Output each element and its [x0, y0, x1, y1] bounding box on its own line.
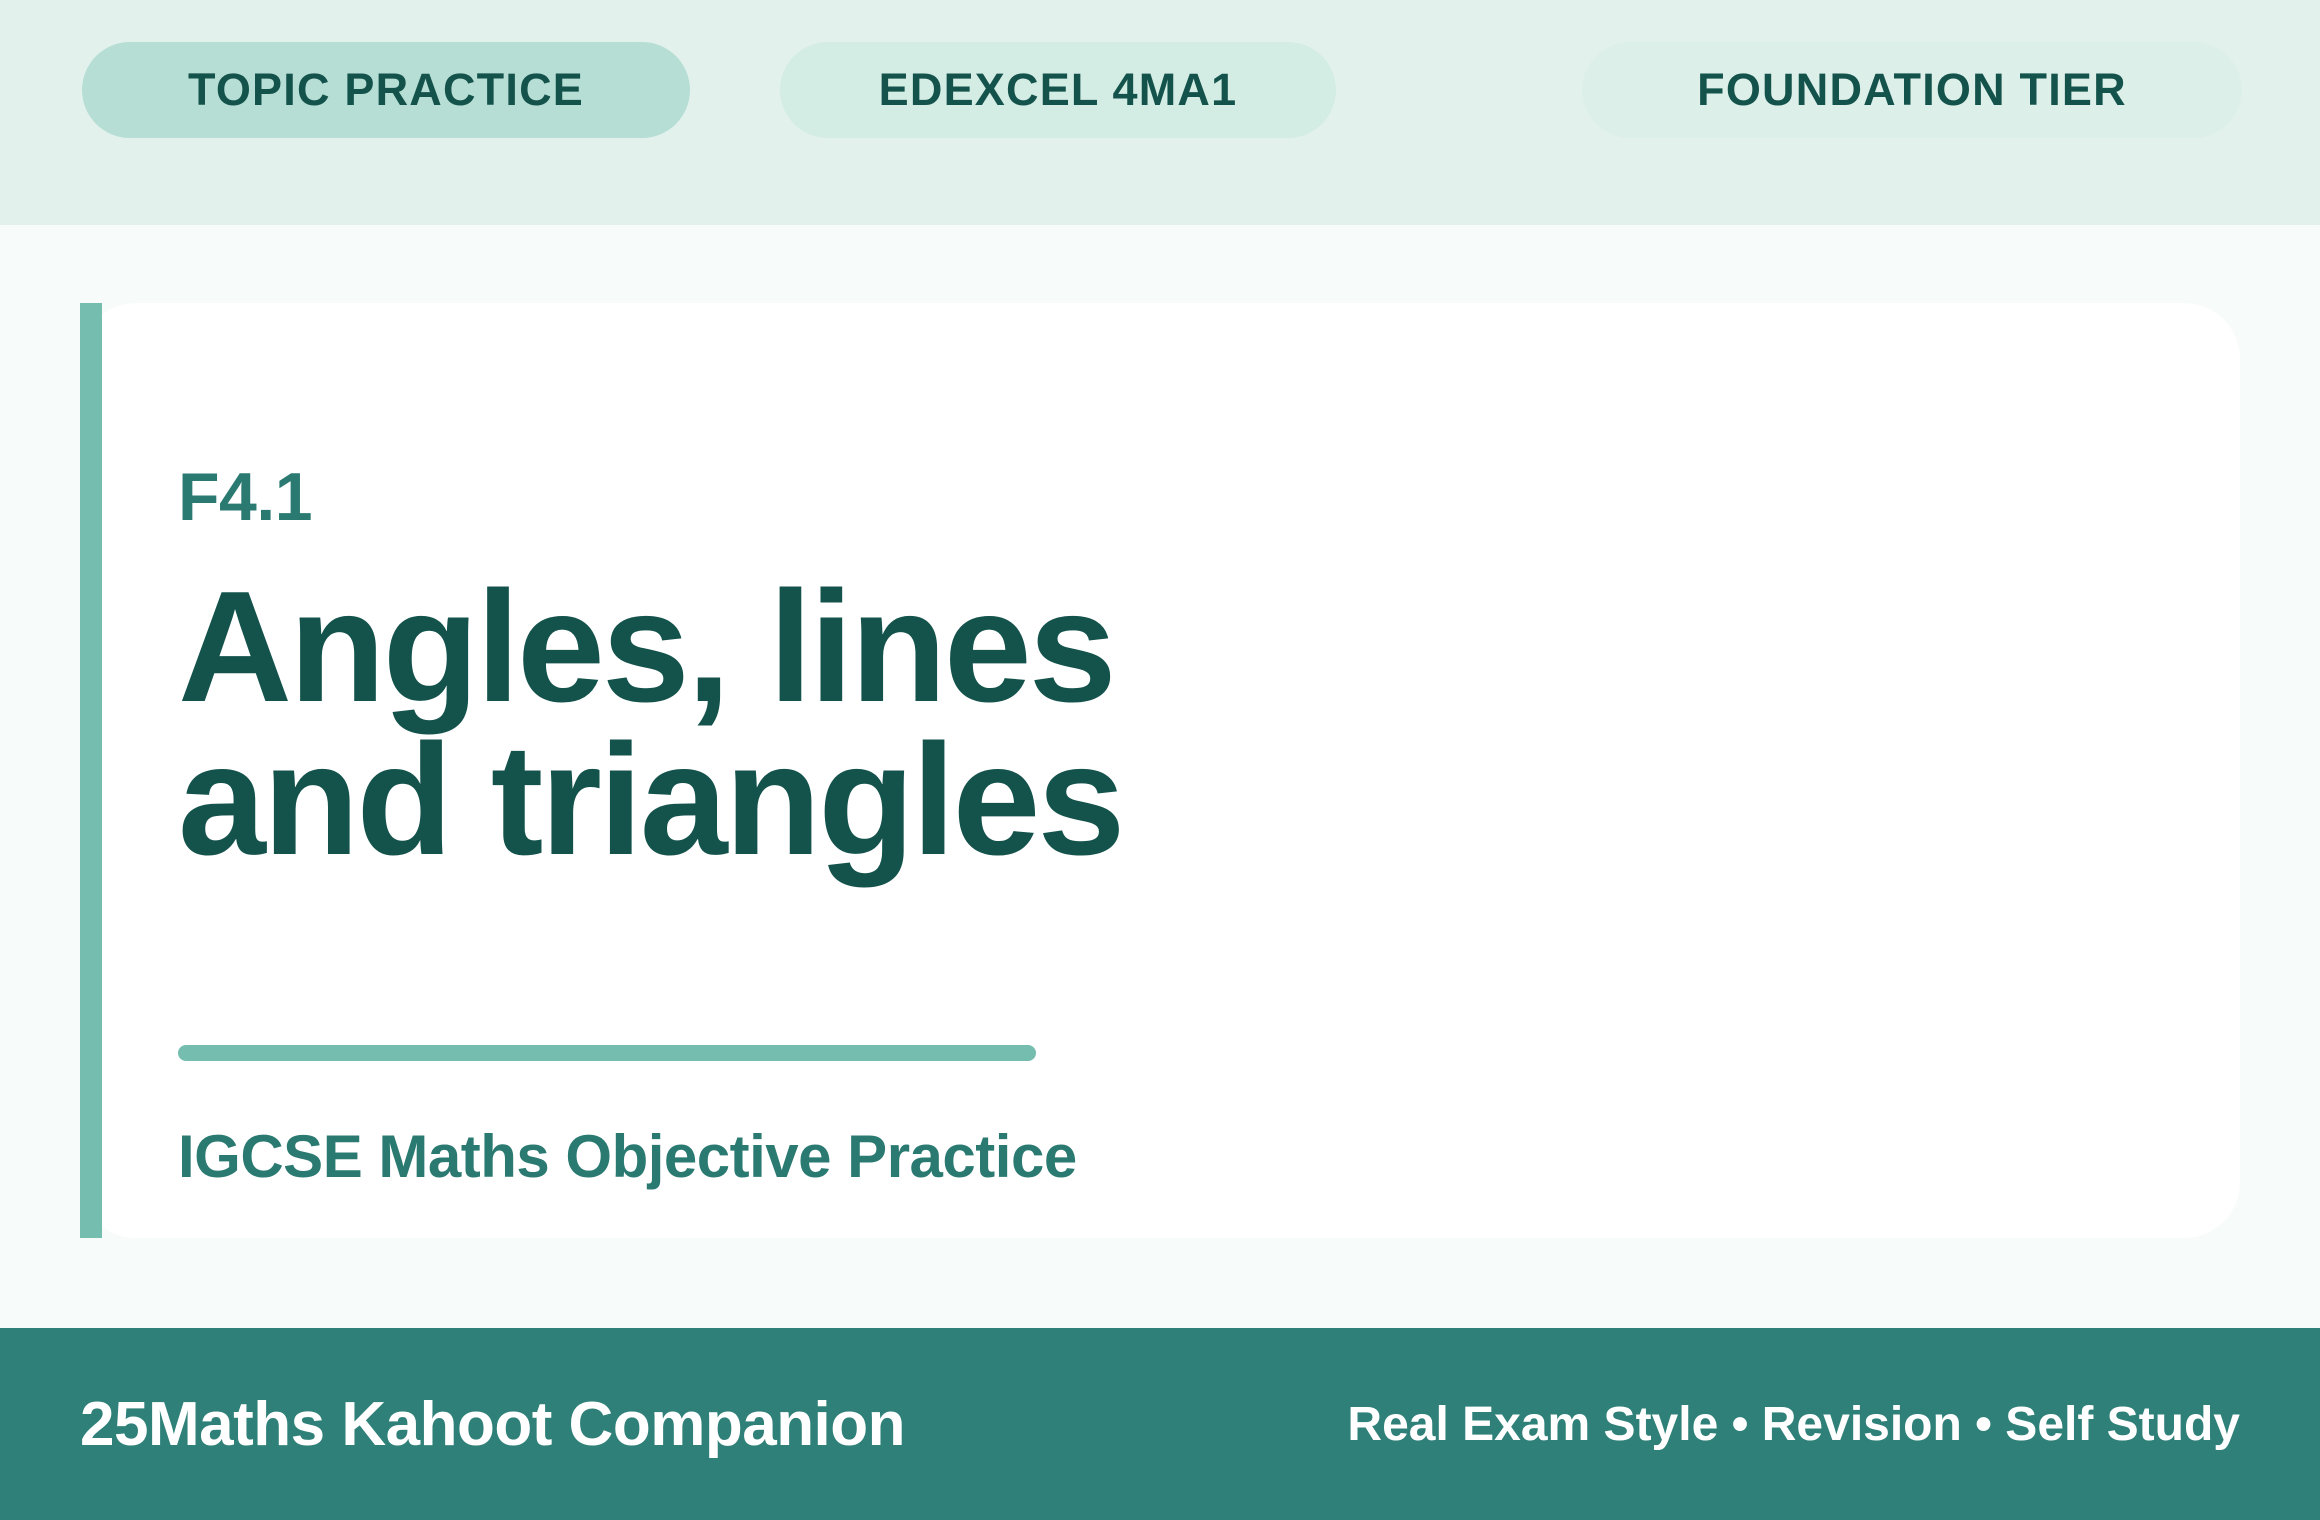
page-subtitle: IGCSE Maths Objective Practice: [178, 1127, 1077, 1187]
title-divider: [178, 1045, 1036, 1061]
footer-tagline: Real Exam Style • Revision • Self Study: [1347, 1397, 2240, 1452]
page-title-line-1: Angles, lines: [178, 571, 1122, 724]
badge-exam-board: EDEXCEL 4MA1: [780, 42, 1336, 138]
badge-topic-practice: TOPIC PRACTICE: [82, 42, 690, 138]
card-accent-bar: [80, 303, 102, 1238]
badge-topic-practice-label: TOPIC PRACTICE: [188, 64, 584, 116]
page-title-line-2: and triangles: [178, 724, 1122, 877]
body-area: F4.1 Angles, lines and triangles IGCSE M…: [0, 225, 2320, 1328]
topic-card: F4.1 Angles, lines and triangles IGCSE M…: [80, 303, 2240, 1238]
footer-brand: 25Maths Kahoot Companion: [80, 1389, 905, 1460]
badge-exam-board-label: EDEXCEL 4MA1: [879, 64, 1238, 116]
badge-tier-label: FOUNDATION TIER: [1697, 64, 2127, 116]
topic-code: F4.1: [178, 463, 312, 531]
footer-bar: 25Maths Kahoot Companion Real Exam Style…: [0, 1328, 2320, 1520]
slide-root: TOPIC PRACTICE EDEXCEL 4MA1 FOUNDATION T…: [0, 0, 2320, 1520]
badge-tier: FOUNDATION TIER: [1582, 42, 2242, 138]
page-title: Angles, lines and triangles: [178, 571, 1122, 878]
header-bar: TOPIC PRACTICE EDEXCEL 4MA1 FOUNDATION T…: [0, 0, 2320, 225]
card-content: F4.1 Angles, lines and triangles IGCSE M…: [178, 303, 2180, 1238]
